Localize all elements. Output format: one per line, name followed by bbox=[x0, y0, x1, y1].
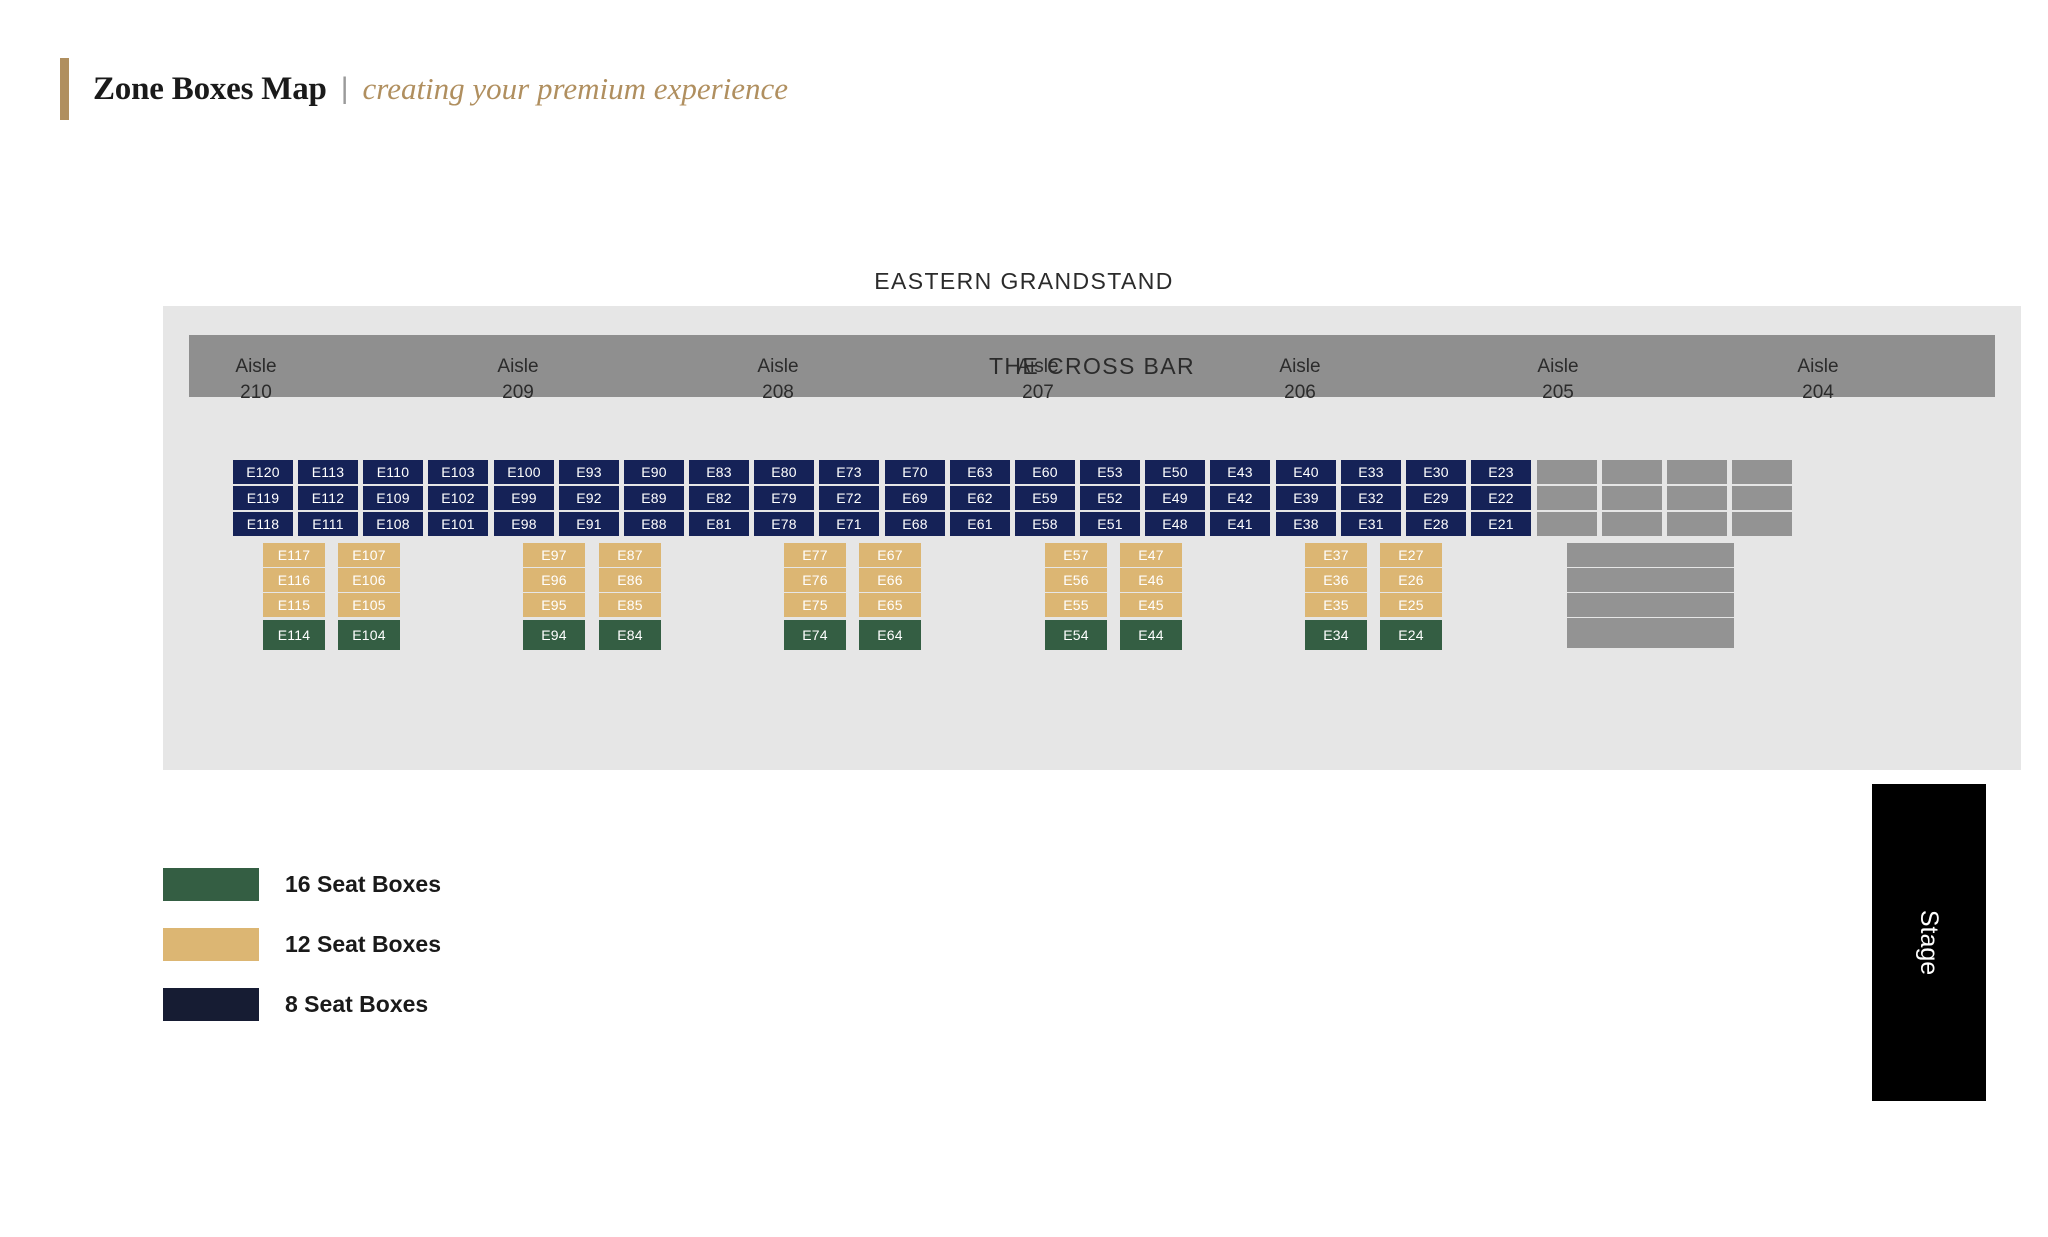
seat-box-E27[interactable]: E27 bbox=[1380, 543, 1442, 567]
seat-box-E58[interactable]: E58 bbox=[1015, 512, 1075, 536]
seat-box-E48[interactable]: E48 bbox=[1145, 512, 1205, 536]
unassigned-box bbox=[1642, 618, 1734, 648]
aisle-number: 208 bbox=[733, 380, 823, 406]
seat-box-E82[interactable]: E82 bbox=[689, 486, 749, 510]
seat-box-E49[interactable]: E49 bbox=[1145, 486, 1205, 510]
seat-box-E79[interactable]: E79 bbox=[754, 486, 814, 510]
seat-box-E92[interactable]: E92 bbox=[559, 486, 619, 510]
header-divider: | bbox=[341, 72, 349, 106]
seat-box-E60[interactable]: E60 bbox=[1015, 460, 1075, 484]
seat-box-E101[interactable]: E101 bbox=[428, 512, 488, 536]
legend-label: 16 Seat Boxes bbox=[285, 871, 441, 898]
aisle-number: 206 bbox=[1255, 380, 1345, 406]
seat-box-E45[interactable]: E45 bbox=[1120, 593, 1182, 617]
aisle-number: 204 bbox=[1773, 380, 1863, 406]
seat-box-E26[interactable]: E26 bbox=[1380, 568, 1442, 592]
seat-box-E116[interactable]: E116 bbox=[263, 568, 325, 592]
unassigned-box bbox=[1667, 486, 1727, 510]
seat-box-E38[interactable]: E38 bbox=[1276, 512, 1336, 536]
unassigned-box bbox=[1732, 486, 1792, 510]
legend-label: 8 Seat Boxes bbox=[285, 991, 428, 1018]
seat-box-E95[interactable]: E95 bbox=[523, 593, 585, 617]
aisle-word: Aisle bbox=[1255, 354, 1345, 380]
seat-box-E102[interactable]: E102 bbox=[428, 486, 488, 510]
unassigned-box bbox=[1602, 460, 1662, 484]
seat-box-E37[interactable]: E37 bbox=[1305, 543, 1367, 567]
seat-box-E21[interactable]: E21 bbox=[1471, 512, 1531, 536]
seat-box-E71[interactable]: E71 bbox=[819, 512, 879, 536]
unassigned-box bbox=[1642, 543, 1734, 567]
aisle-word: Aisle bbox=[1773, 354, 1863, 380]
unassigned-box bbox=[1732, 512, 1792, 536]
aisle-number: 210 bbox=[211, 380, 301, 406]
seat-box-E59[interactable]: E59 bbox=[1015, 486, 1075, 510]
seat-box-E110[interactable]: E110 bbox=[363, 460, 423, 484]
aisle-word: Aisle bbox=[1513, 354, 1603, 380]
seat-box-E63[interactable]: E63 bbox=[950, 460, 1010, 484]
seat-box-E118[interactable]: E118 bbox=[233, 512, 293, 536]
seat-box-E40[interactable]: E40 bbox=[1276, 460, 1336, 484]
seat-box-E86[interactable]: E86 bbox=[599, 568, 661, 592]
seat-box-E22[interactable]: E22 bbox=[1471, 486, 1531, 510]
seat-box-E106[interactable]: E106 bbox=[338, 568, 400, 592]
seat-box-E76[interactable]: E76 bbox=[784, 568, 846, 592]
seat-box-E81[interactable]: E81 bbox=[689, 512, 749, 536]
unassigned-box bbox=[1602, 486, 1662, 510]
seat-box-E25[interactable]: E25 bbox=[1380, 593, 1442, 617]
seat-box-E39[interactable]: E39 bbox=[1276, 486, 1336, 510]
seat-box-E98[interactable]: E98 bbox=[494, 512, 554, 536]
seat-box-E91[interactable]: E91 bbox=[559, 512, 619, 536]
aisle-label-209: Aisle209 bbox=[473, 354, 563, 405]
seat-box-E68[interactable]: E68 bbox=[885, 512, 945, 536]
aisle-word: Aisle bbox=[993, 354, 1083, 380]
seat-box-E73[interactable]: E73 bbox=[819, 460, 879, 484]
seat-box-E114[interactable]: E114 bbox=[263, 620, 325, 650]
seat-box-E50[interactable]: E50 bbox=[1145, 460, 1205, 484]
seat-box-E103[interactable]: E103 bbox=[428, 460, 488, 484]
seat-box-E66[interactable]: E66 bbox=[859, 568, 921, 592]
seat-box-E93[interactable]: E93 bbox=[559, 460, 619, 484]
seat-box-E83[interactable]: E83 bbox=[689, 460, 749, 484]
seat-box-E23[interactable]: E23 bbox=[1471, 460, 1531, 484]
seat-box-E57[interactable]: E57 bbox=[1045, 543, 1107, 567]
seat-box-E88[interactable]: E88 bbox=[624, 512, 684, 536]
aisle-word: Aisle bbox=[473, 354, 563, 380]
seat-box-E44[interactable]: E44 bbox=[1120, 620, 1182, 650]
seat-box-E53[interactable]: E53 bbox=[1080, 460, 1140, 484]
seat-box-E46[interactable]: E46 bbox=[1120, 568, 1182, 592]
seat-box-E89[interactable]: E89 bbox=[624, 486, 684, 510]
seat-box-E78[interactable]: E78 bbox=[754, 512, 814, 536]
seat-box-E64[interactable]: E64 bbox=[859, 620, 921, 650]
seat-box-E56[interactable]: E56 bbox=[1045, 568, 1107, 592]
seat-box-E36[interactable]: E36 bbox=[1305, 568, 1367, 592]
aisle-word: Aisle bbox=[211, 354, 301, 380]
seat-box-E115[interactable]: E115 bbox=[263, 593, 325, 617]
aisle-number: 205 bbox=[1513, 380, 1603, 406]
seat-box-E51[interactable]: E51 bbox=[1080, 512, 1140, 536]
seat-box-E61[interactable]: E61 bbox=[950, 512, 1010, 536]
seat-box-E107[interactable]: E107 bbox=[338, 543, 400, 567]
unassigned-box bbox=[1667, 460, 1727, 484]
page-subtitle: creating your premium experience bbox=[363, 71, 789, 107]
seat-box-E43[interactable]: E43 bbox=[1210, 460, 1270, 484]
seat-box-E109[interactable]: E109 bbox=[363, 486, 423, 510]
page-header: Zone Boxes Map | creating your premium e… bbox=[60, 58, 788, 120]
seat-box-E75[interactable]: E75 bbox=[784, 593, 846, 617]
unassigned-box bbox=[1537, 460, 1597, 484]
seat-box-E104[interactable]: E104 bbox=[338, 620, 400, 650]
unassigned-box bbox=[1667, 512, 1727, 536]
seat-box-E90[interactable]: E90 bbox=[624, 460, 684, 484]
aisle-number: 209 bbox=[473, 380, 563, 406]
seat-box-E47[interactable]: E47 bbox=[1120, 543, 1182, 567]
legend-label: 12 Seat Boxes bbox=[285, 931, 441, 958]
aisle-label-206: Aisle206 bbox=[1255, 354, 1345, 405]
seat-box-E69[interactable]: E69 bbox=[885, 486, 945, 510]
seat-box-E54[interactable]: E54 bbox=[1045, 620, 1107, 650]
seat-box-E41[interactable]: E41 bbox=[1210, 512, 1270, 536]
seat-box-E55[interactable]: E55 bbox=[1045, 593, 1107, 617]
page-title: Zone Boxes Map bbox=[93, 71, 327, 108]
aisle-label-207: Aisle207 bbox=[993, 354, 1083, 405]
legend-row: 12 Seat Boxes bbox=[163, 926, 441, 962]
cross-bar-section: THE CROSS BAR bbox=[189, 335, 1995, 397]
seat-box-E74[interactable]: E74 bbox=[784, 620, 846, 650]
stage-label: Stage bbox=[1915, 910, 1944, 975]
grandstand-label: EASTERN GRANDSTAND bbox=[0, 268, 2048, 295]
seat-box-E29[interactable]: E29 bbox=[1406, 486, 1466, 510]
seat-box-E119[interactable]: E119 bbox=[233, 486, 293, 510]
seat-box-E99[interactable]: E99 bbox=[494, 486, 554, 510]
aisle-number: 207 bbox=[993, 380, 1083, 406]
header-accent-bar bbox=[60, 58, 69, 120]
seat-box-E96[interactable]: E96 bbox=[523, 568, 585, 592]
seating-plan-panel: THE CROSS BAR Aisle210Aisle209Aisle208Ai… bbox=[163, 306, 2021, 770]
unassigned-box bbox=[1642, 593, 1734, 617]
seat-box-E80[interactable]: E80 bbox=[754, 460, 814, 484]
seat-box-E34[interactable]: E34 bbox=[1305, 620, 1367, 650]
seat-box-E31[interactable]: E31 bbox=[1341, 512, 1401, 536]
seat-box-E32[interactable]: E32 bbox=[1341, 486, 1401, 510]
seat-box-E87[interactable]: E87 bbox=[599, 543, 661, 567]
seat-box-E35[interactable]: E35 bbox=[1305, 593, 1367, 617]
unassigned-box bbox=[1732, 460, 1792, 484]
seat-box-E72[interactable]: E72 bbox=[819, 486, 879, 510]
seat-box-E28[interactable]: E28 bbox=[1406, 512, 1466, 536]
unassigned-box bbox=[1602, 512, 1662, 536]
legend-row: 16 Seat Boxes bbox=[163, 866, 441, 902]
seat-box-E105[interactable]: E105 bbox=[338, 593, 400, 617]
aisle-label-204: Aisle204 bbox=[1773, 354, 1863, 405]
aisle-word: Aisle bbox=[733, 354, 823, 380]
legend-swatch bbox=[163, 868, 259, 901]
seat-box-E113[interactable]: E113 bbox=[298, 460, 358, 484]
seat-box-E112[interactable]: E112 bbox=[298, 486, 358, 510]
seat-box-E24[interactable]: E24 bbox=[1380, 620, 1442, 650]
legend: 16 Seat Boxes12 Seat Boxes8 Seat Boxes bbox=[163, 866, 441, 1046]
seat-box-E108[interactable]: E108 bbox=[363, 512, 423, 536]
legend-swatch bbox=[163, 928, 259, 961]
unassigned-box bbox=[1537, 512, 1597, 536]
aisle-label-210: Aisle210 bbox=[211, 354, 301, 405]
seat-box-E100[interactable]: E100 bbox=[494, 460, 554, 484]
seat-box-E70[interactable]: E70 bbox=[885, 460, 945, 484]
legend-row: 8 Seat Boxes bbox=[163, 986, 441, 1022]
stage-block: Stage bbox=[1872, 784, 1986, 1101]
aisle-label-208: Aisle208 bbox=[733, 354, 823, 405]
seat-box-E94[interactable]: E94 bbox=[523, 620, 585, 650]
seat-box-E52[interactable]: E52 bbox=[1080, 486, 1140, 510]
legend-swatch bbox=[163, 988, 259, 1021]
seat-box-E85[interactable]: E85 bbox=[599, 593, 661, 617]
seat-box-E67[interactable]: E67 bbox=[859, 543, 921, 567]
seat-box-E120[interactable]: E120 bbox=[233, 460, 293, 484]
unassigned-box bbox=[1537, 486, 1597, 510]
seat-box-E111[interactable]: E111 bbox=[298, 512, 358, 536]
seat-box-E42[interactable]: E42 bbox=[1210, 486, 1270, 510]
seat-box-E84[interactable]: E84 bbox=[599, 620, 661, 650]
seat-box-E30[interactable]: E30 bbox=[1406, 460, 1466, 484]
seat-box-E117[interactable]: E117 bbox=[263, 543, 325, 567]
seat-box-E33[interactable]: E33 bbox=[1341, 460, 1401, 484]
aisle-label-205: Aisle205 bbox=[1513, 354, 1603, 405]
seat-box-E77[interactable]: E77 bbox=[784, 543, 846, 567]
seat-box-E97[interactable]: E97 bbox=[523, 543, 585, 567]
seat-box-E62[interactable]: E62 bbox=[950, 486, 1010, 510]
seat-box-E65[interactable]: E65 bbox=[859, 593, 921, 617]
unassigned-box bbox=[1642, 568, 1734, 592]
